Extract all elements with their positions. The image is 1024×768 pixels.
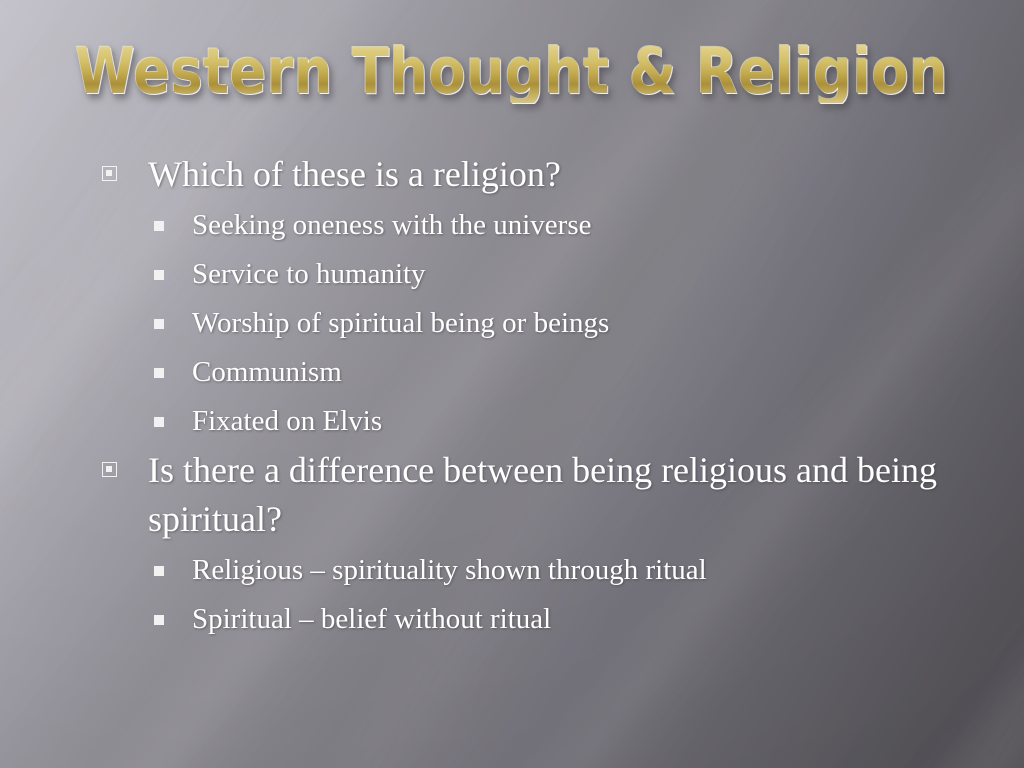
filled-square-bullet-icon [154,566,164,576]
bullet-list-level-1: Which of these is a religion? Seeking on… [96,150,976,644]
bullet-text-level-2: Worship of spiritual being or beings [192,307,609,339]
bullet-text-level-1: Which of these is a religion? [148,150,948,199]
bullet-item-level-1: Which of these is a religion? [96,150,976,199]
bullet-text-level-2: Communism [192,356,342,388]
bullet-item-level-2: Communism [96,348,976,397]
slide-title: Western Thought & Religion [75,40,948,103]
filled-square-bullet-icon [154,368,164,378]
bullet-item-level-2: Spiritual – belief without ritual [96,595,976,644]
bullet-text-level-2: Religious – spirituality shown through r… [192,554,707,586]
filled-square-bullet-icon [154,417,164,427]
bullet-text-level-2: Service to humanity [192,258,426,290]
bullet-item-level-2: Worship of spiritual being or beings [96,299,976,348]
filled-square-bullet-icon [154,270,164,280]
presentation-slide: Western Thought & Religion Which of thes… [0,0,1024,768]
bullet-list-level-2: Religious – spirituality shown through r… [96,546,976,644]
bullet-list-level-2: Seeking oneness with the universe Servic… [96,201,976,446]
bullet-item-level-2: Fixated on Elvis [96,397,976,446]
bullet-text-level-2: Seeking oneness with the universe [192,209,591,241]
bullet-item-level-2: Seeking oneness with the universe [96,201,976,250]
bullet-item-level-1: Is there a difference between being reli… [96,446,976,544]
square-outline-bullet-icon [102,462,117,477]
filled-square-bullet-icon [154,319,164,329]
slide-title-container: Western Thought & Religion [0,40,1024,103]
square-outline-bullet-icon [102,166,117,181]
slide-body: Which of these is a religion? Seeking on… [96,150,976,644]
bullet-text-level-1: Is there a difference between being reli… [148,446,948,544]
bullet-item-level-2: Service to humanity [96,250,976,299]
filled-square-bullet-icon [154,221,164,231]
filled-square-bullet-icon [154,615,164,625]
bullet-text-level-2: Fixated on Elvis [192,405,382,437]
bullet-text-level-2: Spiritual – belief without ritual [192,603,551,635]
bullet-item-level-2: Religious – spirituality shown through r… [96,546,976,595]
